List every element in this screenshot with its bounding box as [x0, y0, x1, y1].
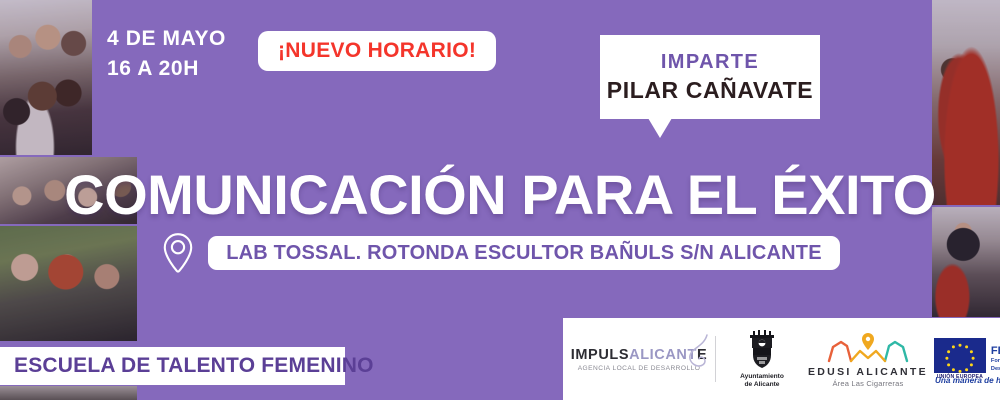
- workshop-group-photo: [0, 0, 92, 155]
- event-date-line-1: 4 DE MAYO: [107, 24, 226, 54]
- impulsalicante-logo: IMPULSALICANTE AGENCIA LOCAL DE DESARROL…: [563, 318, 715, 400]
- eu-slogan: Una manera de ha: [935, 376, 1000, 385]
- ground-detail-photo: [0, 386, 137, 400]
- impuls-word-dark-1: IMPULS: [571, 347, 629, 363]
- swoosh-icon: [687, 334, 713, 368]
- eu-flag-group: UNIÓN EUROPEA: [934, 338, 986, 380]
- photo-tint-overlay: [0, 0, 92, 155]
- ayuntamiento-name: Ayuntamiento de Alicante: [740, 373, 784, 389]
- ayuntamiento-name-line-2: de Alicante: [740, 381, 784, 389]
- feder-text-group: FE Fon Des: [991, 346, 1000, 372]
- event-date-line-2: 16 A 20H: [107, 54, 226, 84]
- speaker-name: PILAR CAÑAVATE: [607, 77, 813, 104]
- event-date-block: 4 DE MAYO 16 A 20H: [107, 24, 226, 84]
- eu-flag-icon: [934, 338, 986, 373]
- school-band: ESCUELA DE TALENTO FEMENINO: [0, 347, 345, 385]
- edusi-subtitle: Área Las Cigarreras: [832, 379, 903, 388]
- ayuntamiento-name-line-1: Ayuntamiento: [740, 373, 784, 381]
- edusi-name: EDUSI ALICANTE: [808, 366, 928, 378]
- photo-tint-overlay: [0, 386, 137, 400]
- map-pin-icon: [160, 232, 196, 274]
- feder-abbrev: FE: [991, 346, 1000, 357]
- event-banner: 4 DE MAYO 16 A 20H ¡NUEVO HORARIO! IMPAR…: [0, 0, 1000, 400]
- location-pill: LAB TOSSAL. ROTONDA ESCULTOR BAÑULS S/N …: [208, 236, 840, 270]
- location-row: LAB TOSSAL. ROTONDA ESCULTOR BAÑULS S/N …: [0, 232, 1000, 274]
- impulsalicante-tagline: AGENCIA LOCAL DE DESARROLLO: [578, 365, 701, 372]
- ayuntamiento-alicante-logo: Ayuntamiento de Alicante: [716, 318, 808, 400]
- speaker-callout-tail: [648, 118, 672, 138]
- new-schedule-badge: ¡NUEVO HORARIO!: [258, 31, 496, 71]
- coat-of-arms-icon: [744, 329, 780, 371]
- edusi-alicante-logo: EDUSI ALICANTE Área Las Cigarreras: [808, 318, 928, 400]
- feder-line-1: Fon: [991, 358, 1000, 365]
- speaker-callout: IMPARTE PILAR CAÑAVATE: [600, 35, 820, 119]
- european-union-logo: UNIÓN EUROPEA FE Fon Des: [928, 318, 1000, 400]
- skyline-pin-icon: [825, 331, 911, 365]
- sponsor-logo-panel: IMPULSALICANTE AGENCIA LOCAL DE DESARROL…: [563, 318, 1000, 400]
- page-title: COMUNICACIÓN PARA EL ÉXITO: [0, 162, 1000, 227]
- feder-line-2: Des: [991, 366, 1000, 373]
- imparte-label: IMPARTE: [661, 51, 759, 74]
